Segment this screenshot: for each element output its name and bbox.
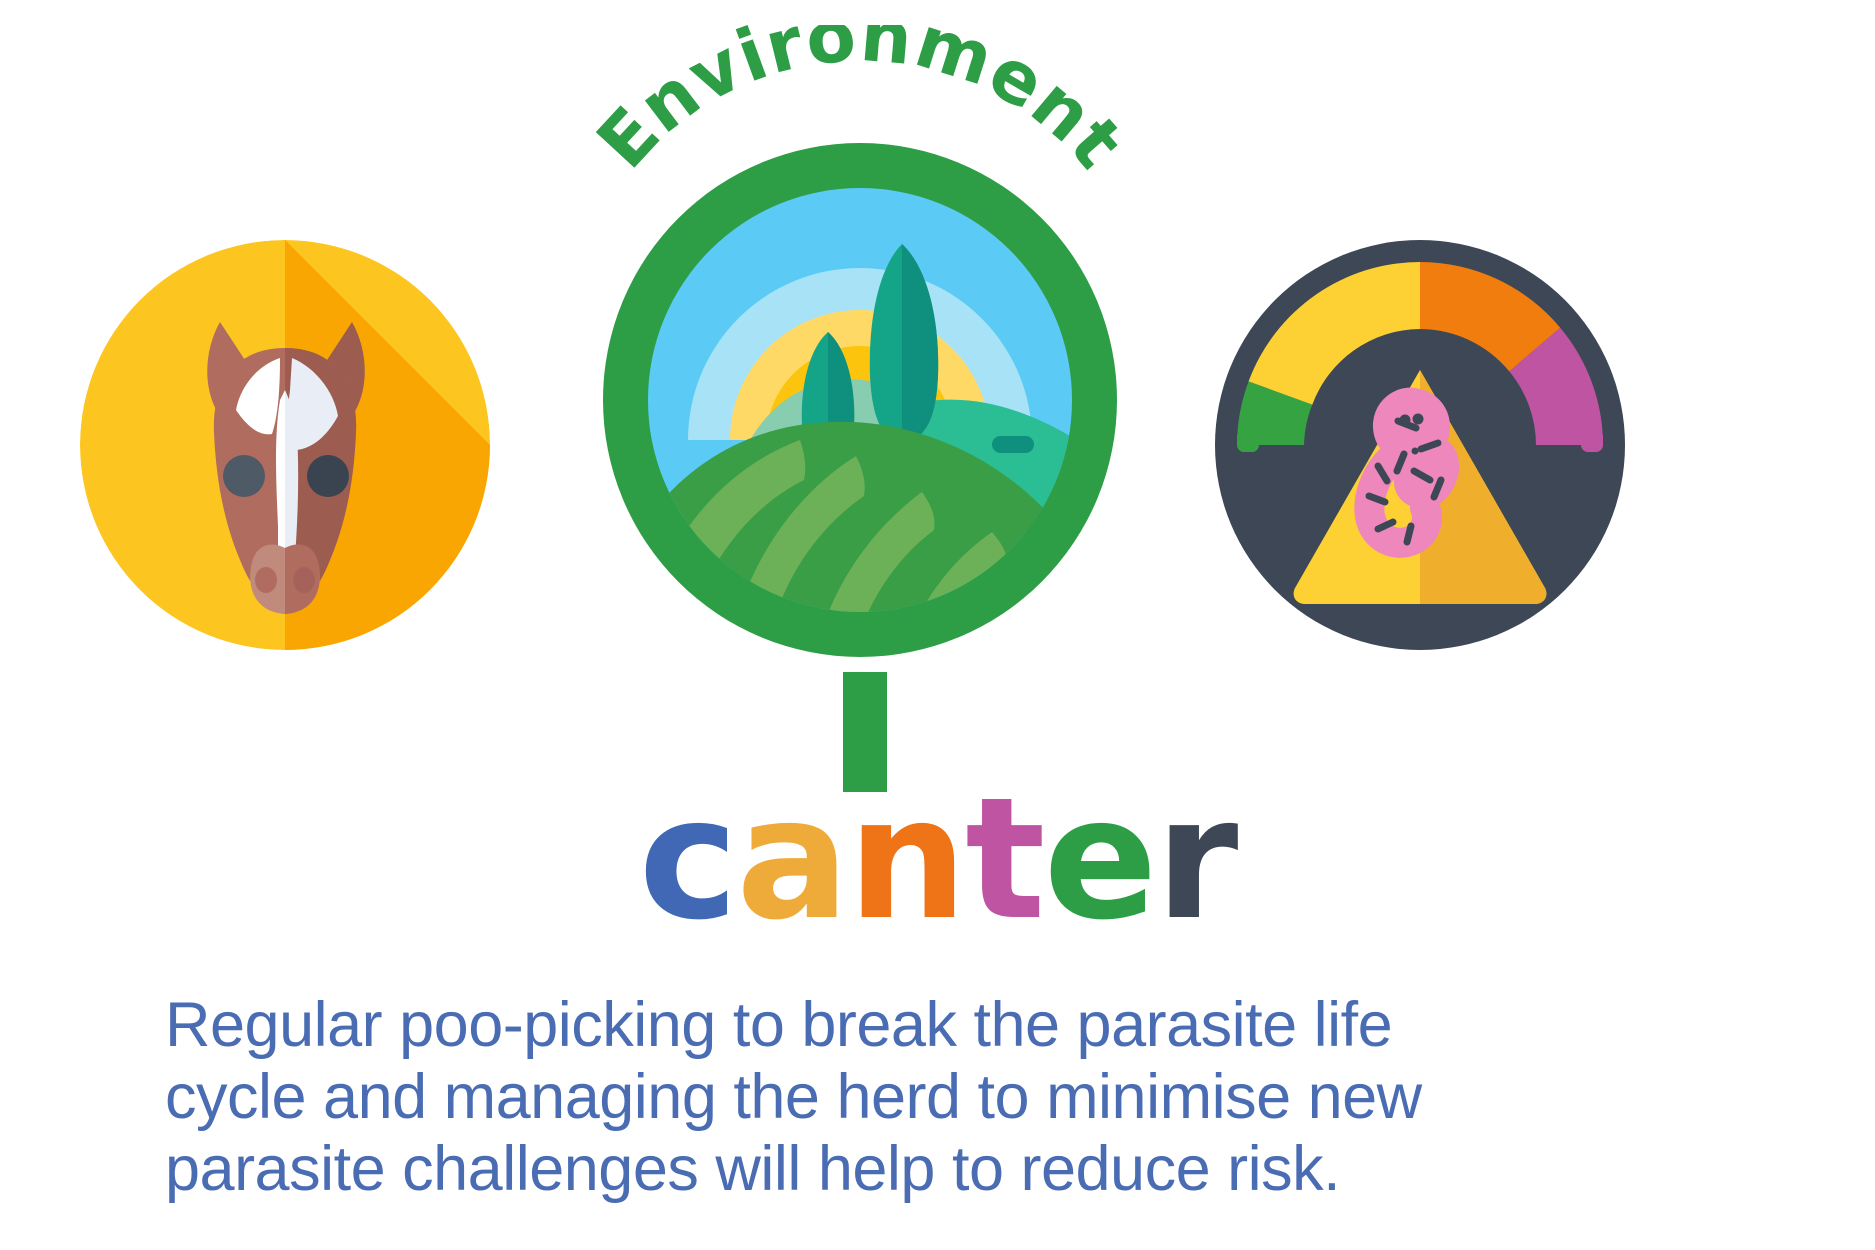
horse-head-icon <box>80 240 490 650</box>
caption-line-2: cycle and managing the herd to minimise … <box>165 1062 1585 1134</box>
logo-letter-t: t <box>965 775 1043 943</box>
infographic-canvas: Environment <box>0 0 1875 1250</box>
logo-letter-n: n <box>848 775 966 943</box>
caption-line-1: Regular poo-picking to break the parasit… <box>165 990 1585 1062</box>
logo-letter-r: r <box>1155 775 1236 943</box>
connector-dot-1 <box>843 672 887 716</box>
icon-row: Environment <box>0 0 1875 700</box>
canter-logo: canter <box>0 775 1875 943</box>
logo-letter-a: a <box>736 775 847 943</box>
parasite-risk-gauge-icon <box>1215 240 1625 650</box>
environment-landscape-icon <box>600 140 1120 660</box>
caption-line-3: parasite challenges will help to reduce … <box>165 1134 1585 1206</box>
caption-text: Regular poo-picking to break the parasit… <box>165 990 1585 1205</box>
logo-letter-e: e <box>1044 775 1156 943</box>
logo-letter-c: c <box>639 775 737 943</box>
